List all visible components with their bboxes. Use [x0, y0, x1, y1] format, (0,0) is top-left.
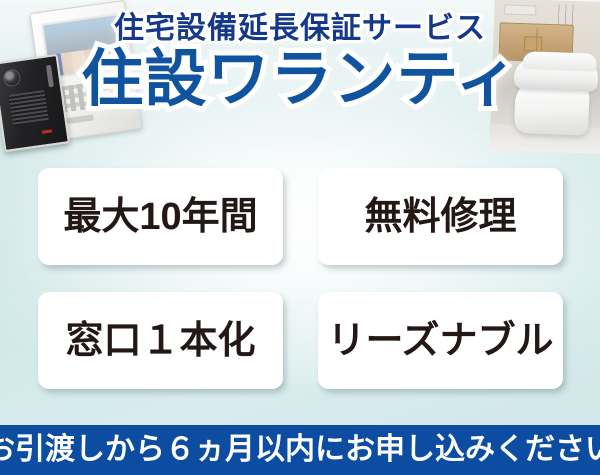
feature-label: リーズナブル — [327, 322, 553, 360]
intercom-call-led — [42, 129, 52, 133]
feature-label: 無料修理 — [364, 198, 516, 236]
feature-label: 最大10年間 — [63, 198, 257, 236]
feature-box-free-repair: 無料修理 — [318, 168, 563, 265]
feature-box-single-contact: 窓口１本化 — [38, 292, 283, 389]
feature-grid: 最大10年間 無料修理 窓口１本化 リーズナブル — [38, 168, 563, 389]
page-title: 住設ワランティ — [0, 48, 600, 111]
cta-bar: お引渡しから６ヵ月以内にお申し込みください — [0, 425, 600, 475]
feature-label: 窓口１本化 — [65, 322, 255, 360]
cta-text: お引渡しから６ヵ月以内にお申し込みください — [0, 435, 600, 465]
feature-box-max-years: 最大10年間 — [38, 168, 283, 265]
header-block: 住宅設備延長保証サービス 住設ワランティ — [0, 14, 600, 111]
feature-box-reasonable: リーズナブル — [318, 292, 563, 389]
service-subtitle: 住宅設備延長保証サービス — [0, 14, 600, 44]
promo-banner: 住宅設備延長保証サービス 住設ワランティ 最大10年間 無料修理 窓口１本化 リ… — [0, 0, 600, 475]
